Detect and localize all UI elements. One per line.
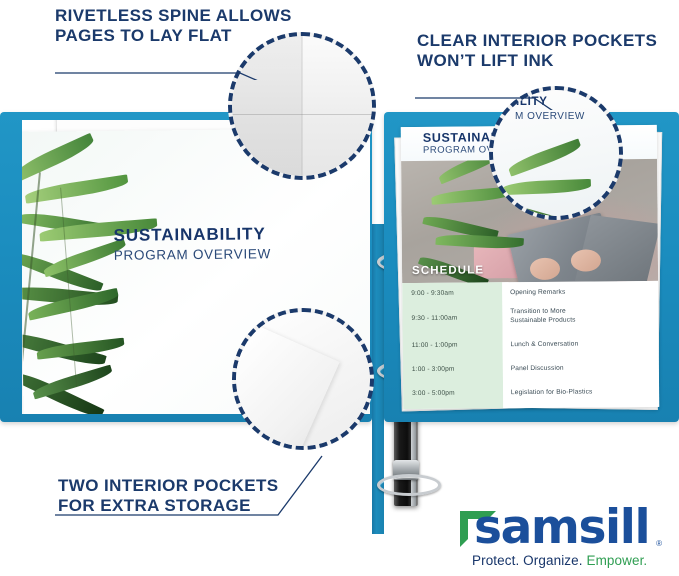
table-row: Legislation for Bio-Plastics: [503, 379, 659, 404]
schedule-activity: Transition to More Sustainable Products: [510, 308, 575, 326]
schedule-activity: Lunch & Conversation: [510, 340, 578, 348]
magnifier-pocket: [232, 308, 374, 450]
magnifier-subtitle-fragment: M OVERVIEW: [515, 111, 585, 122]
schedule-time: 1:00 - 3:00pm: [412, 365, 455, 372]
schedule-time: 11:00 - 1:00pm: [412, 341, 458, 348]
magnifier-pocket-content: [236, 312, 370, 446]
binder-ring-3: [377, 474, 441, 496]
table-row: 3:00 - 5:00pm: [403, 380, 503, 405]
pocket-fold: [236, 324, 340, 446]
insert-title-block: SUSTAINABILITY PROGRAM OVERVIEW: [113, 224, 271, 263]
insert-subtitle: PROGRAM OVERVIEW: [114, 246, 271, 263]
table-row: 9:00 - 9:30am: [402, 282, 502, 303]
logo-tagline: Protect. Organize. Empower.: [472, 553, 647, 568]
table-row: Lunch & Conversation: [502, 331, 658, 356]
schedule-time-column: 9:00 - 9:30am 9:30 - 11:00am 11:00 - 1:0…: [402, 282, 503, 409]
samsill-logo: samsill ® Protect. Organize. Empower.: [452, 505, 664, 571]
schedule-table: 9:00 - 9:30am 9:30 - 11:00am 11:00 - 1:0…: [402, 281, 659, 409]
leader-line-2: [410, 65, 610, 110]
table-row: Panel Discussion: [503, 355, 659, 380]
schedule-activity: Legislation for Bio-Plastics: [511, 388, 593, 396]
table-row: Transition to More Sustainable Products: [502, 301, 658, 332]
schedule-time: 3:00 - 5:00pm: [412, 389, 455, 396]
table-row: 9:30 - 11:00am: [402, 302, 502, 333]
schedule-activity-column: Opening Remarks Transition to More Susta…: [502, 281, 659, 408]
table-row: 11:00 - 1:00pm: [403, 332, 503, 357]
schedule-activity: Opening Remarks: [510, 288, 565, 295]
table-row: 1:00 - 3:00pm: [403, 356, 503, 381]
leader-line-3: [50, 430, 350, 522]
logo-wordmark: samsill: [474, 503, 649, 553]
leader-line-1: [50, 40, 295, 80]
tagline-protect-organize: Protect. Organize.: [472, 553, 583, 568]
schedule-label: SCHEDULE: [412, 264, 484, 277]
schedule-activity: Panel Discussion: [511, 364, 564, 371]
schedule-time: 9:00 - 9:30am: [411, 289, 454, 296]
insert-title: SUSTAINABILITY: [113, 224, 270, 246]
registered-trademark-icon: ®: [656, 539, 662, 548]
table-row: Opening Remarks: [502, 281, 658, 302]
tagline-empower: Empower.: [583, 553, 648, 568]
schedule-time: 9:30 - 11:00am: [411, 314, 457, 321]
spine-crease: [232, 114, 372, 115]
